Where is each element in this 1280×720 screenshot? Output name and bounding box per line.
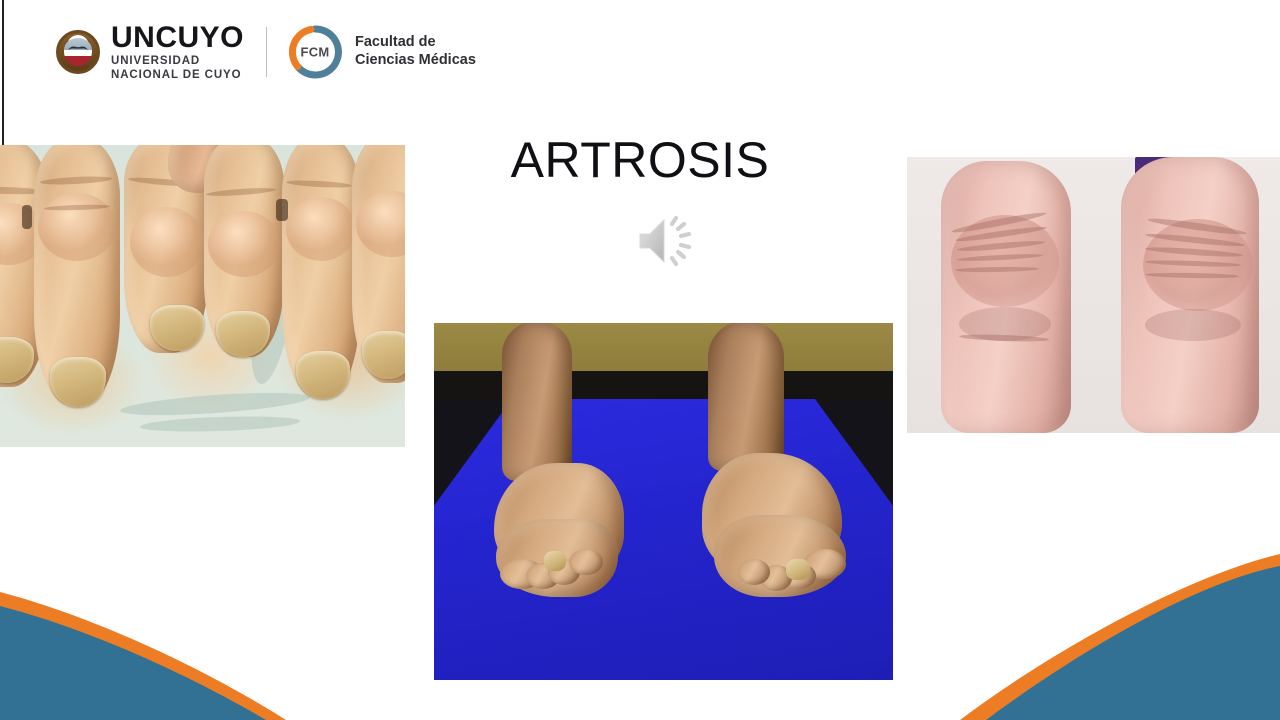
- condor-icon: [67, 44, 89, 52]
- fcm-line2: Ciencias Médicas: [355, 52, 476, 70]
- photo-knees-osteoarthritis: [907, 157, 1280, 433]
- institution-logo-bar: UNCUYO UNIVERSIDAD NACIONAL DE CUYO FCM …: [56, 24, 476, 80]
- logo-divider: [266, 27, 267, 77]
- fcm-wordmark: Facultad de Ciencias Médicas: [355, 34, 476, 69]
- uncuyo-wordmark: UNCUYO UNIVERSIDAD NACIONAL DE CUYO: [111, 23, 244, 81]
- uncuyo-name: UNCUYO: [111, 23, 244, 53]
- uncuyo-crest-icon: [56, 30, 100, 74]
- corner-swoosh-right-shape: [960, 550, 1280, 720]
- corner-swoosh-left-shape: [0, 550, 320, 720]
- photo-feet-hallux-valgus: [434, 323, 893, 680]
- uncuyo-logo: UNCUYO UNIVERSIDAD NACIONAL DE CUYO: [56, 23, 244, 81]
- uncuyo-line2: NACIONAL DE CUYO: [111, 70, 244, 82]
- corner-swoosh-left: [0, 550, 320, 720]
- fcm-ring-icon: FCM: [287, 24, 343, 80]
- corner-swoosh-right: [960, 550, 1280, 720]
- presentation-slide: UNCUYO UNIVERSIDAD NACIONAL DE CUYO FCM …: [0, 0, 1280, 720]
- uncuyo-line1: UNIVERSIDAD: [111, 56, 244, 68]
- photo-arthritic-hands: [0, 145, 405, 447]
- fcm-line1: Facultad de: [355, 34, 476, 52]
- speaker-audio-icon[interactable]: [634, 214, 700, 268]
- fcm-logo: FCM Facultad de Ciencias Médicas: [287, 24, 476, 80]
- header-left-rule: [2, 0, 4, 146]
- fcm-acronym: FCM: [287, 45, 343, 60]
